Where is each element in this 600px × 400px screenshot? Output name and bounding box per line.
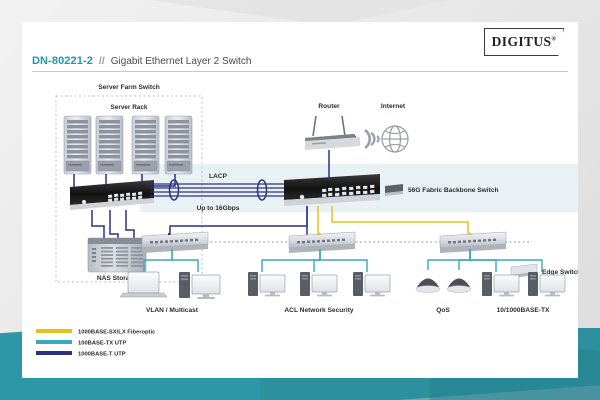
backbone-switch-icon xyxy=(385,184,403,196)
page-header: DIGITUS® DN-80221-2 // Gigabit Ethernet … xyxy=(22,22,578,74)
desktop-icon-4 xyxy=(353,272,390,296)
label-group-vlan: VLAN / Multicast xyxy=(146,307,199,314)
nas-links xyxy=(92,210,134,238)
desktop-icon-3 xyxy=(300,272,337,296)
page-title: DN-80221-2 // Gigabit Ethernet Layer 2 S… xyxy=(32,55,251,67)
server-rack-3 xyxy=(132,116,159,174)
router-icon xyxy=(305,116,360,150)
label-router: Router xyxy=(318,103,340,110)
nas-storage-icon xyxy=(88,238,146,272)
edge-switch-3 xyxy=(440,232,506,253)
edge-switch-1 xyxy=(142,232,208,253)
label-internet: Internet xyxy=(381,103,406,110)
desktop-icon-1 xyxy=(179,272,220,299)
registered-mark: ® xyxy=(551,37,556,43)
label-backbone-switch: 56G Fabric Backbone Switch xyxy=(408,187,499,194)
globe-icon xyxy=(382,126,408,152)
server-rack-1 xyxy=(64,116,91,174)
access-point-icon-1 xyxy=(416,279,440,293)
logo-text: DIGITUS® xyxy=(492,34,557,50)
digitus-logo: DIGITUS® xyxy=(484,28,564,56)
access-point-icon-2 xyxy=(447,279,471,293)
legend-swatch-1 xyxy=(36,340,72,344)
legend-label-1: 100BASE-TX UTP xyxy=(78,341,126,347)
legend-swatch-2 xyxy=(36,351,72,355)
server-rack-group xyxy=(64,116,192,174)
edge2-downlinks xyxy=(262,249,367,272)
page-background: DIGITUS® DN-80221-2 // Gigabit Ethernet … xyxy=(0,0,600,400)
wifi-signal-icon xyxy=(365,130,379,148)
legend-label-0: 1000BASE-SX/LX Fiberoptic xyxy=(78,330,156,336)
server-rack-2 xyxy=(96,116,123,174)
desktop-icon-5 xyxy=(482,272,519,296)
label-lacp-speed: Up to 16Gbps xyxy=(197,205,240,212)
edge-switch-2 xyxy=(289,232,355,253)
label-server-rack: Server Rack xyxy=(111,104,148,111)
content-card: DIGITUS® DN-80221-2 // Gigabit Ethernet … xyxy=(22,22,578,378)
desktop-icon-6 xyxy=(528,272,565,296)
server-rack-4 xyxy=(165,116,192,174)
legend-swatch-0 xyxy=(36,329,72,333)
label-group-base-tx: 10/1000BASE-TX xyxy=(497,307,550,314)
legend-label-2: 1000BASE-T UTP xyxy=(78,352,126,358)
label-server-farm-switch: Server Farm Switch xyxy=(98,84,160,91)
label-group-qos: QoS xyxy=(436,307,450,314)
desktop-icon-2 xyxy=(248,272,285,296)
network-diagram: Server Farm Switch Server Rack xyxy=(22,74,578,378)
product-title: Gigabit Ethernet Layer 2 Switch xyxy=(111,56,252,67)
label-lacp: LACP xyxy=(209,173,228,180)
model-number: DN-80221-2 xyxy=(32,55,93,67)
title-separator: // xyxy=(99,55,105,67)
label-group-acl: ACL Network Security xyxy=(284,307,353,314)
legend: 1000BASE-SX/LX Fiberoptic 100BASE-TX UTP… xyxy=(36,329,156,358)
header-divider xyxy=(32,71,568,72)
edge1-downlinks xyxy=(144,249,198,272)
